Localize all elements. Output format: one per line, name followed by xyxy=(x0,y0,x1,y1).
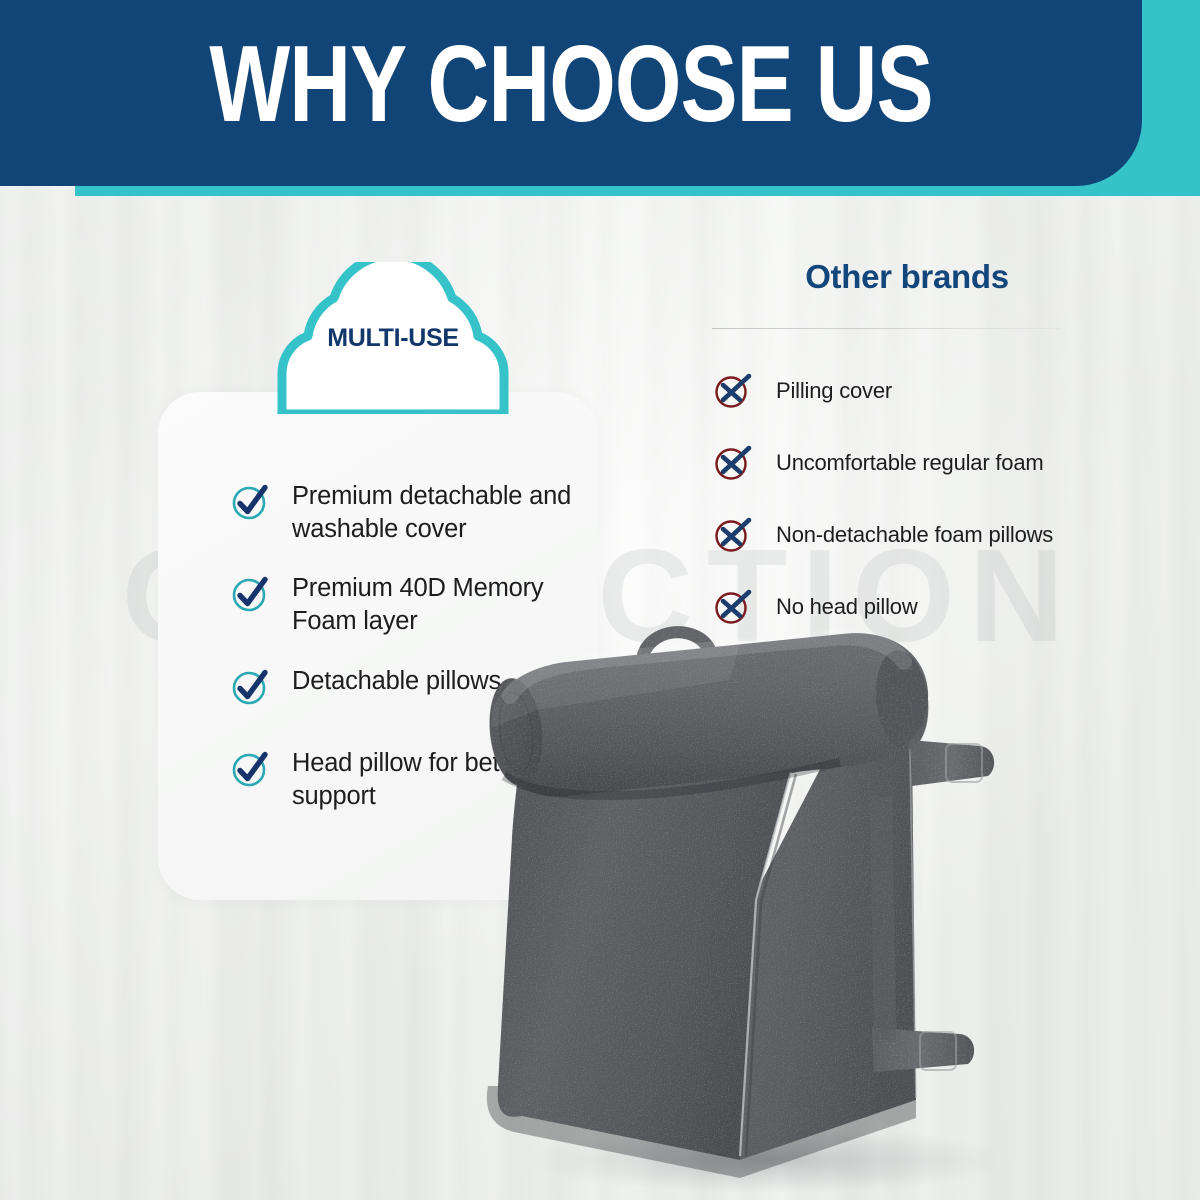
list-item-label: Uncomfortable regular foam xyxy=(776,450,1043,476)
feature-item: Premium detachable and washable cover xyxy=(230,480,590,546)
check-circle-icon xyxy=(230,574,270,614)
section-divider xyxy=(712,328,1060,329)
cross-circle-icon xyxy=(712,442,754,484)
other-brands-title: Other brands xyxy=(722,258,1092,296)
multi-use-badge: MULTI-USE xyxy=(268,262,518,414)
check-circle-icon xyxy=(230,667,270,707)
header-banner: WHY CHOOSE US xyxy=(0,0,1200,205)
list-item: Uncomfortable regular foam xyxy=(712,427,1092,499)
list-item-label: Pilling cover xyxy=(776,378,892,404)
list-item: Non-detachable foam pillows xyxy=(712,499,1092,571)
multi-use-label: MULTI-USE xyxy=(268,324,518,354)
list-item-label: Non-detachable foam pillows xyxy=(776,522,1053,548)
feature-label: Premium detachable and washable cover xyxy=(292,480,590,546)
header-navy-layer: WHY CHOOSE US xyxy=(0,0,1142,186)
cross-circle-icon xyxy=(712,514,754,556)
page-title: WHY CHOOSE US xyxy=(40,30,1102,139)
wedge-pillow-illustration xyxy=(440,600,1080,1200)
other-brands-section: Other brands Pilling cover xyxy=(712,258,1092,643)
list-item: Pilling cover xyxy=(712,355,1092,427)
product-image xyxy=(440,600,1080,1200)
check-circle-icon xyxy=(230,749,270,789)
cross-circle-icon xyxy=(712,370,754,412)
promo-page: OZ AUCTION WHY CHOOSE US Premium detacha… xyxy=(0,0,1200,1200)
check-circle-icon xyxy=(230,482,270,522)
